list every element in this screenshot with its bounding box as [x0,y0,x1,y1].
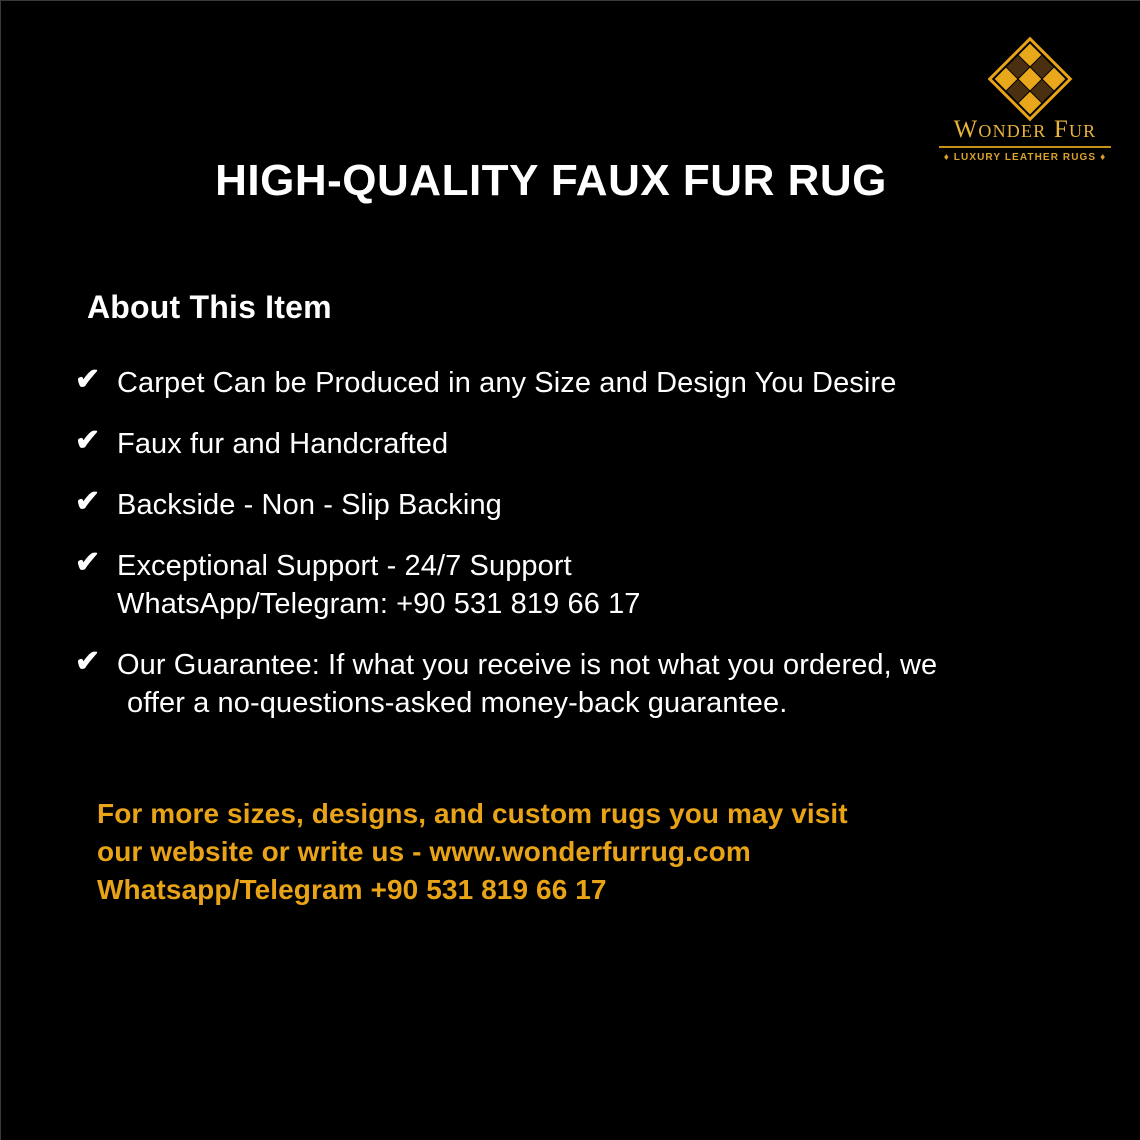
list-item: ✔ Backside - Non - Slip Backing [71,485,1081,524]
list-item-text: Our Guarantee: If what you receive is no… [117,645,1081,722]
section-heading: About This Item [87,289,332,326]
list-item-line: Our Guarantee: If what you receive is no… [117,646,1081,684]
feature-list: ✔ Carpet Can be Produced in any Size and… [71,363,1081,744]
logo-divider [939,146,1111,148]
list-item-line: offer a no-questions-asked money-back gu… [117,684,1081,722]
product-info-poster: Wonder Fur ♦ LUXURY LEATHER RUGS ♦ HIGH-… [0,0,1140,1140]
cta-line-1: For more sizes, designs, and custom rugs… [97,795,848,833]
cta-line-2-website[interactable]: our website or write us - www.wonderfurr… [97,833,848,871]
list-item-text: Carpet Can be Produced in any Size and D… [117,363,1081,402]
list-item: ✔ Carpet Can be Produced in any Size and… [71,363,1081,402]
list-item-text: Backside - Non - Slip Backing [117,485,1081,524]
check-icon: ✔ [71,645,117,679]
list-item-line: Exceptional Support - 24/7 Support [117,547,1081,585]
call-to-action: For more sizes, designs, and custom rugs… [97,795,848,909]
cta-line-3-contact[interactable]: Whatsapp/Telegram +90 531 819 66 17 [97,871,848,909]
list-item-line: WhatsApp/Telegram: +90 531 819 66 17 [117,585,1081,623]
list-item-line: Backside - Non - Slip Backing [117,486,1081,524]
list-item-text: Faux fur and Handcrafted [117,424,1081,463]
page-title: HIGH-QUALITY FAUX FUR RUG [1,156,1140,206]
check-icon: ✔ [71,546,117,580]
list-item: ✔ Our Guarantee: If what you receive is … [71,645,1081,722]
diamond-checker-logo-icon [986,35,1064,113]
diamond-pattern [988,37,1073,122]
check-icon: ✔ [71,424,117,458]
check-icon: ✔ [71,485,117,519]
list-item-line: Faux fur and Handcrafted [117,425,1081,463]
list-item-line: Carpet Can be Produced in any Size and D… [117,364,1081,402]
list-item: ✔ Exceptional Support - 24/7 Support Wha… [71,546,1081,623]
brand-logo: Wonder Fur ♦ LUXURY LEATHER RUGS ♦ [932,35,1118,163]
brand-wordmark: Wonder Fur [932,117,1118,143]
list-item: ✔ Faux fur and Handcrafted [71,424,1081,463]
check-icon: ✔ [71,363,117,397]
list-item-text: Exceptional Support - 24/7 Support Whats… [117,546,1081,623]
